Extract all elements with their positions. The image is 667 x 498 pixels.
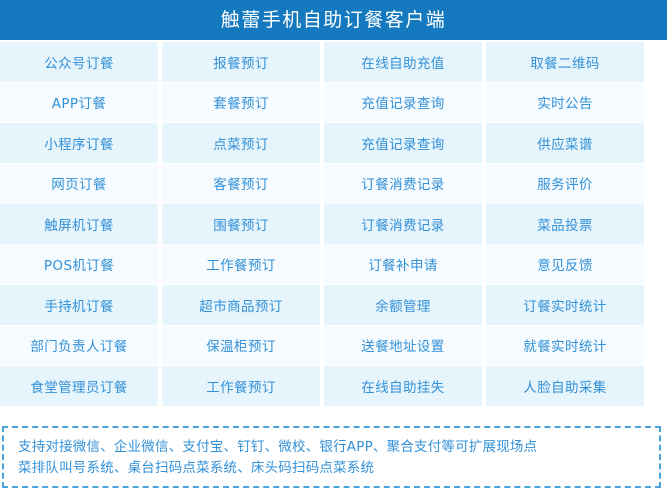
feature-cell[interactable]: 订餐补申请 (324, 245, 486, 286)
feature-cell[interactable]: 就餐实时统计 (486, 326, 648, 367)
feature-cell[interactable]: 超市商品预订 (162, 285, 324, 326)
footer-note-box: 支持对接微信、企业微信、支付宝、钉钉、微校、银行APP、聚合支付等可扩展现场点 … (2, 426, 661, 488)
feature-cell[interactable]: 服务评价 (486, 164, 648, 205)
selfservice-ordering-client-panel: 触蕾手机自助订餐客户端 公众号订餐 报餐预订 在线自助充值 取餐二维码 APP订… (0, 0, 667, 498)
footer-note-line: 菜排队叫号系统、桌台扫码点菜系统、床头码扫码点菜系统 (18, 458, 645, 479)
feature-cell[interactable]: 订餐消费记录 (324, 164, 486, 205)
page-title: 触蕾手机自助订餐客户端 (221, 11, 447, 30)
feature-cell[interactable]: 工作餐预订 (162, 245, 324, 286)
feature-cell[interactable]: 在线自助挂失 (324, 366, 486, 407)
table-row: 部门负责人订餐 保温柜预订 送餐地址设置 就餐实时统计 (0, 326, 648, 367)
feature-cell[interactable]: 人脸自助采集 (486, 366, 648, 407)
feature-cell[interactable]: 充值记录查询 (324, 123, 486, 164)
feature-cell[interactable]: 报餐预订 (162, 42, 324, 83)
table-row: 食堂管理员订餐 工作餐预订 在线自助挂失 人脸自助采集 (0, 366, 648, 407)
feature-cell[interactable]: 菜品投票 (486, 204, 648, 245)
footer-note-line: 支持对接微信、企业微信、支付宝、钉钉、微校、银行APP、聚合支付等可扩展现场点 (18, 437, 645, 458)
feature-cell[interactable]: 食堂管理员订餐 (0, 366, 162, 407)
feature-cell[interactable]: 客餐预订 (162, 164, 324, 205)
feature-cell[interactable]: 小程序订餐 (0, 123, 162, 164)
feature-cell[interactable]: 触屏机订餐 (0, 204, 162, 245)
feature-cell[interactable]: 工作餐预订 (162, 366, 324, 407)
table-row: 公众号订餐 报餐预订 在线自助充值 取餐二维码 (0, 42, 648, 83)
feature-cell[interactable]: 保温柜预订 (162, 326, 324, 367)
feature-grid: 公众号订餐 报餐预订 在线自助充值 取餐二维码 APP订餐 套餐预订 充值记录查… (0, 42, 648, 407)
feature-cell[interactable]: 套餐预订 (162, 83, 324, 124)
table-row: 触屏机订餐 围餐预订 订餐消费记录 菜品投票 (0, 204, 648, 245)
table-row: 小程序订餐 点菜预订 充值记录查询 供应菜谱 (0, 123, 648, 164)
table-row: 手持机订餐 超市商品预订 余额管理 订餐实时统计 (0, 285, 648, 326)
feature-cell[interactable]: 充值记录查询 (324, 83, 486, 124)
feature-cell[interactable]: 实时公告 (486, 83, 648, 124)
feature-cell[interactable]: 公众号订餐 (0, 42, 162, 83)
feature-cell[interactable]: 手持机订餐 (0, 285, 162, 326)
feature-cell[interactable]: POS机订餐 (0, 245, 162, 286)
table-row: APP订餐 套餐预订 充值记录查询 实时公告 (0, 83, 648, 124)
feature-cell[interactable]: APP订餐 (0, 83, 162, 124)
feature-cell[interactable]: 供应菜谱 (486, 123, 648, 164)
feature-cell[interactable]: 余额管理 (324, 285, 486, 326)
feature-cell[interactable]: 部门负责人订餐 (0, 326, 162, 367)
feature-cell[interactable]: 围餐预订 (162, 204, 324, 245)
table-row: 网页订餐 客餐预订 订餐消费记录 服务评价 (0, 164, 648, 205)
feature-cell[interactable]: 订餐消费记录 (324, 204, 486, 245)
feature-cell[interactable]: 点菜预订 (162, 123, 324, 164)
feature-cell[interactable]: 在线自助充值 (324, 42, 486, 83)
feature-cell[interactable]: 送餐地址设置 (324, 326, 486, 367)
feature-cell[interactable]: 网页订餐 (0, 164, 162, 205)
feature-cell[interactable]: 订餐实时统计 (486, 285, 648, 326)
feature-cell[interactable]: 取餐二维码 (486, 42, 648, 83)
table-row: POS机订餐 工作餐预订 订餐补申请 意见反馈 (0, 245, 648, 286)
panel-header: 触蕾手机自助订餐客户端 (0, 0, 667, 40)
feature-cell[interactable]: 意见反馈 (486, 245, 648, 286)
